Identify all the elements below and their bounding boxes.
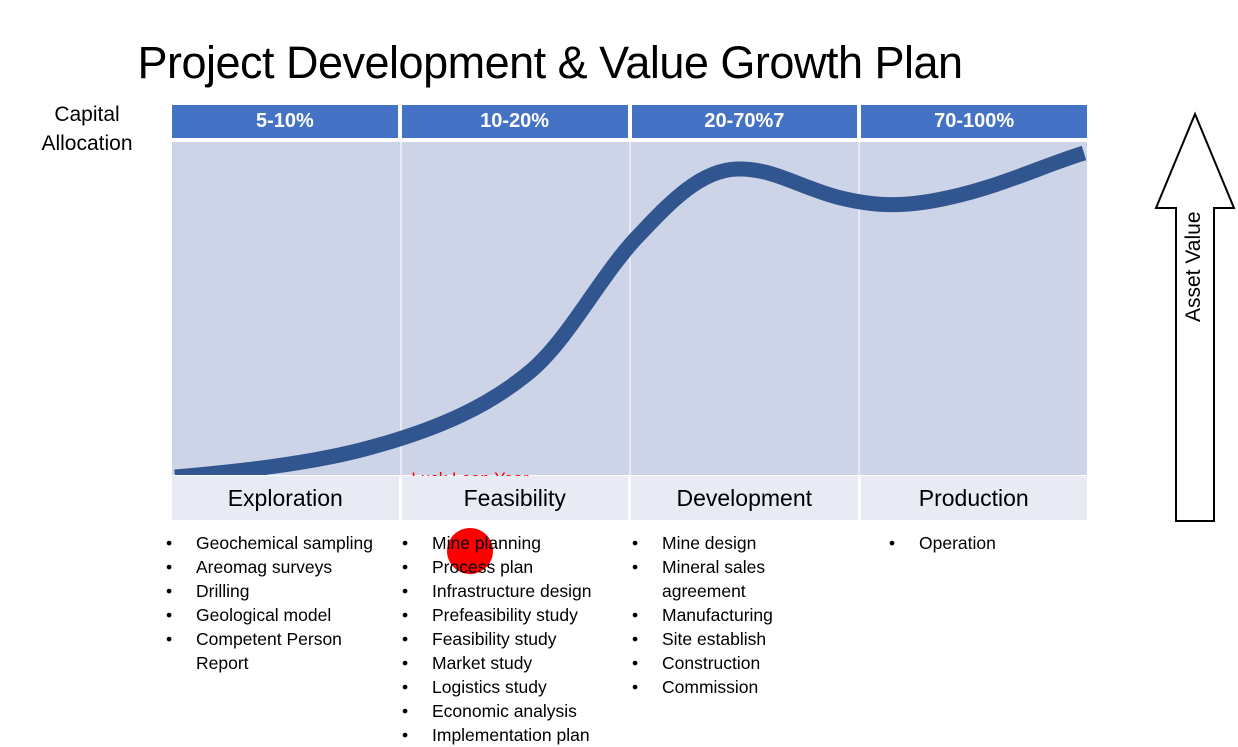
bullet-item: •Site establish	[624, 627, 851, 651]
bullet-dot-icon: •	[402, 699, 408, 723]
bullet-item-label: Areomag surveys	[196, 557, 332, 577]
stage-cell-development: Development	[631, 476, 858, 520]
bullet-dot-icon: •	[632, 531, 638, 555]
bullet-dot-icon: •	[402, 555, 408, 579]
bullet-item-label: Logistics study	[432, 677, 547, 697]
page-title: Project Development & Value Growth Plan	[0, 34, 1100, 92]
bullet-item: •Drilling	[158, 579, 386, 603]
bullet-item: •Mineral sales agreement	[624, 555, 851, 603]
bullet-item: •Mine planning	[394, 531, 616, 555]
bullet-item: •Operation	[881, 531, 1081, 555]
bullet-dot-icon: •	[889, 531, 895, 555]
bullet-list-production: •Operation	[851, 531, 1081, 747]
bullet-dot-icon: •	[166, 531, 172, 555]
asset-value-growth-curve	[172, 142, 1087, 475]
bullet-dot-icon: •	[166, 627, 172, 651]
bullet-item-label: Implementation plan	[432, 725, 590, 745]
bullet-item-label: Geological model	[196, 605, 331, 625]
bullet-item: •Areomag surveys	[158, 555, 386, 579]
bullet-dot-icon: •	[402, 579, 408, 603]
capital-allocation-axis-label: Capital Allocation	[8, 100, 166, 158]
bullet-item-label: Feasibility study	[432, 629, 557, 649]
bullet-item-label: Mine design	[662, 533, 756, 553]
bullet-dot-icon: •	[166, 579, 172, 603]
capital-allocation-line2: Allocation	[8, 129, 166, 158]
bullet-item-label: Operation	[919, 533, 996, 553]
bullet-item-label: Prefeasibility study	[432, 605, 578, 625]
bullet-item: •Manufacturing	[624, 603, 851, 627]
capital-cell-development: 20-70%7	[632, 105, 858, 138]
bullet-item-label: Process plan	[432, 557, 533, 577]
bullet-dot-icon: •	[402, 603, 408, 627]
bullet-item: •Commission	[624, 675, 851, 699]
chart-plot-area	[172, 142, 1087, 475]
bullet-item-label: Geochemical sampling	[196, 533, 373, 553]
bullet-list-exploration: •Geochemical sampling•Areomag surveys•Dr…	[150, 531, 386, 747]
bullet-item: •Infrastructure design	[394, 579, 616, 603]
bullet-dot-icon: •	[402, 675, 408, 699]
stage-cell-exploration: Exploration	[172, 476, 399, 520]
capital-allocation-line1: Capital	[8, 100, 166, 129]
bullet-item: •Implementation plan	[394, 723, 616, 747]
bullet-item-label: Mineral sales agreement	[662, 557, 765, 601]
bullet-item-label: Manufacturing	[662, 605, 773, 625]
bullet-item: •Competent Person Report	[158, 627, 386, 675]
bullet-list-development: •Mine design•Mineral sales agreement•Man…	[616, 531, 851, 747]
bullet-dot-icon: •	[402, 627, 408, 651]
bullet-dot-icon: •	[632, 555, 638, 579]
bullet-item-label: Commission	[662, 677, 758, 697]
bullet-item-label: Infrastructure design	[432, 581, 592, 601]
bullet-item: •Logistics study	[394, 675, 616, 699]
capital-cell-exploration: 5-10%	[172, 105, 398, 138]
bullet-item-label: Economic analysis	[432, 701, 577, 721]
bullet-dot-icon: •	[166, 603, 172, 627]
bullet-dot-icon: •	[632, 675, 638, 699]
bullet-item-label: Competent Person Report	[196, 629, 342, 673]
bullet-item-label: Mine planning	[432, 533, 541, 553]
bullet-item: •Prefeasibility study	[394, 603, 616, 627]
bullet-dot-icon: •	[402, 723, 408, 747]
capital-cell-feasibility: 10-20%	[402, 105, 628, 138]
bullet-dot-icon: •	[166, 555, 172, 579]
stage-activity-lists: •Geochemical sampling•Areomag surveys•Dr…	[150, 531, 1095, 747]
bullet-item-label: Construction	[662, 653, 760, 673]
stage-value-chart: 5-10% 10-20% 20-70%7 70-100% Luck Leap Y…	[172, 105, 1087, 520]
bullet-item: •Mine design	[624, 531, 851, 555]
stage-cell-feasibility: Feasibility	[402, 476, 629, 520]
bullet-item-label: Site establish	[662, 629, 766, 649]
bullet-dot-icon: •	[632, 603, 638, 627]
bullet-dot-icon: •	[632, 627, 638, 651]
asset-value-axis-label: Asset Value	[1182, 242, 1206, 322]
bullet-item: •Economic analysis	[394, 699, 616, 723]
stage-cell-production: Production	[861, 476, 1088, 520]
bullet-list-feasibility: •Mine planning•Process plan•Infrastructu…	[386, 531, 616, 747]
bullet-item: •Market study	[394, 651, 616, 675]
capital-allocation-header-row: 5-10% 10-20% 20-70%7 70-100%	[172, 105, 1087, 138]
bullet-item-label: Market study	[432, 653, 532, 673]
bullet-item: •Process plan	[394, 555, 616, 579]
bullet-item: •Geological model	[158, 603, 386, 627]
bullet-dot-icon: •	[632, 651, 638, 675]
bullet-item-label: Drilling	[196, 581, 249, 601]
bullet-dot-icon: •	[402, 651, 408, 675]
bullet-dot-icon: •	[402, 531, 408, 555]
capital-cell-production: 70-100%	[861, 105, 1087, 138]
bullet-item: •Feasibility study	[394, 627, 616, 651]
bullet-item: •Construction	[624, 651, 851, 675]
bullet-item: •Geochemical sampling	[158, 531, 386, 555]
stage-name-row: Exploration Feasibility Development Prod…	[172, 476, 1087, 520]
